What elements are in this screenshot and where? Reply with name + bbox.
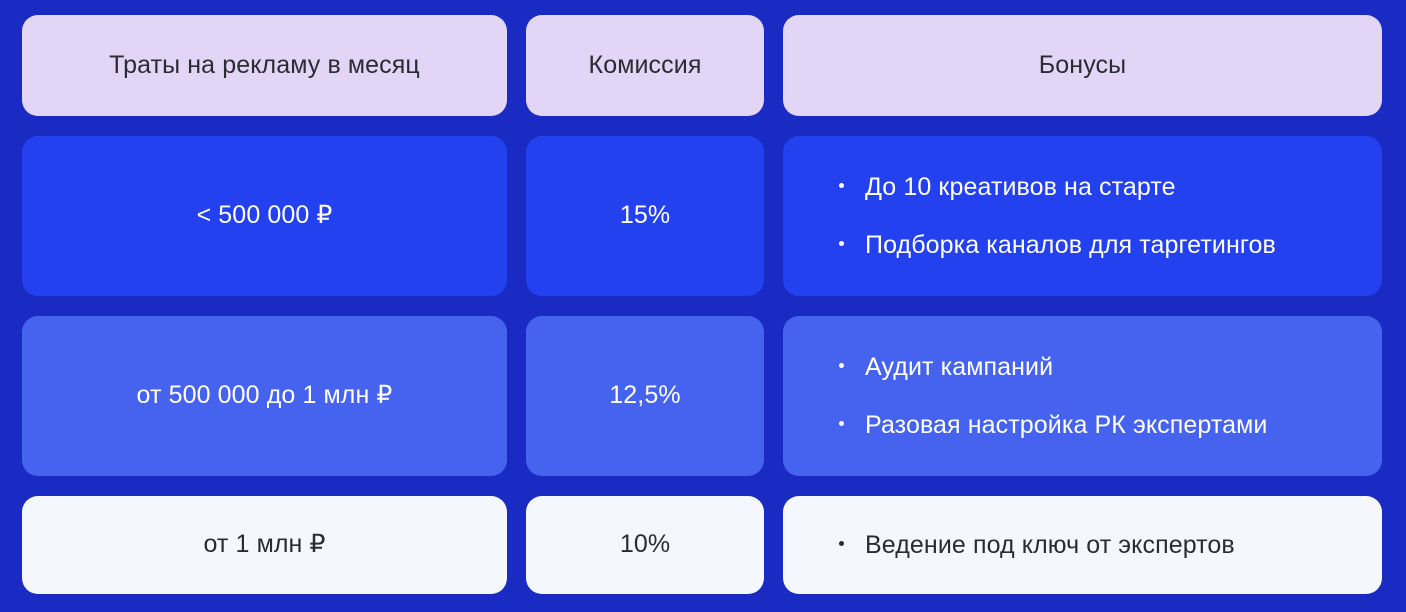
header-cell-bonuses: Бонусы [783,15,1382,116]
bullet-dot-icon [839,541,844,546]
table-row: от 1 млн ₽ 10% Ведение под ключ от экспе… [22,496,1382,594]
table-row: от 500 000 до 1 млн ₽ 12,5% Аудит кампан… [22,316,1382,476]
list-item: Ведение под ключ от экспертов [839,529,1358,562]
pricing-tiers-table: Траты на рекламу в месяц Комиссия Бонусы… [0,0,1406,612]
cell-spend-tier-1: < 500 000 ₽ [22,136,507,296]
table-header-row: Траты на рекламу в месяц Комиссия Бонусы [22,15,1382,116]
cell-spend-tier-3: от 1 млн ₽ [22,496,507,594]
bonus-text: Подборка каналов для таргетингов [865,229,1358,262]
spend-value-tier-3: от 1 млн ₽ [203,529,325,560]
bullet-dot-icon [839,363,844,368]
list-item: Аудит кампаний [839,351,1358,384]
cell-commission-tier-2: 12,5% [526,316,764,476]
bullet-dot-icon [839,421,844,426]
bullet-dot-icon [839,241,844,246]
cell-spend-tier-2: от 500 000 до 1 млн ₽ [22,316,507,476]
list-item: Разовая настройка РК экспертами [839,409,1358,442]
bonus-list-tier-3: Ведение под ключ от экспертов [839,529,1358,562]
cell-bonuses-tier-1: До 10 креативов на старте Подборка канал… [783,136,1382,296]
header-label-spend: Траты на рекламу в месяц [109,50,420,81]
bullet-dot-icon [839,183,844,188]
commission-value-tier-2: 12,5% [609,380,680,411]
bonus-text: До 10 креативов на старте [865,171,1358,204]
header-cell-spend: Траты на рекламу в месяц [22,15,507,116]
table-row: < 500 000 ₽ 15% До 10 креативов на старт… [22,136,1382,296]
cell-commission-tier-1: 15% [526,136,764,296]
bonus-text: Ведение под ключ от экспертов [865,529,1358,562]
cell-bonuses-tier-2: Аудит кампаний Разовая настройка РК эксп… [783,316,1382,476]
commission-value-tier-3: 10% [620,529,670,560]
list-item: Подборка каналов для таргетингов [839,229,1358,262]
spend-value-tier-1: < 500 000 ₽ [197,200,333,231]
cell-bonuses-tier-3: Ведение под ключ от экспертов [783,496,1382,594]
cell-commission-tier-3: 10% [526,496,764,594]
list-item: До 10 креативов на старте [839,171,1358,204]
commission-value-tier-1: 15% [620,200,670,231]
spend-value-tier-2: от 500 000 до 1 млн ₽ [137,380,393,411]
header-label-commission: Комиссия [589,50,702,81]
bonus-text: Аудит кампаний [865,351,1358,384]
bonus-text: Разовая настройка РК экспертами [865,409,1358,442]
bonus-list-tier-1: До 10 креативов на старте Подборка канал… [839,171,1358,262]
header-cell-commission: Комиссия [526,15,764,116]
bonus-list-tier-2: Аудит кампаний Разовая настройка РК эксп… [839,351,1358,442]
header-label-bonuses: Бонусы [1039,50,1126,81]
